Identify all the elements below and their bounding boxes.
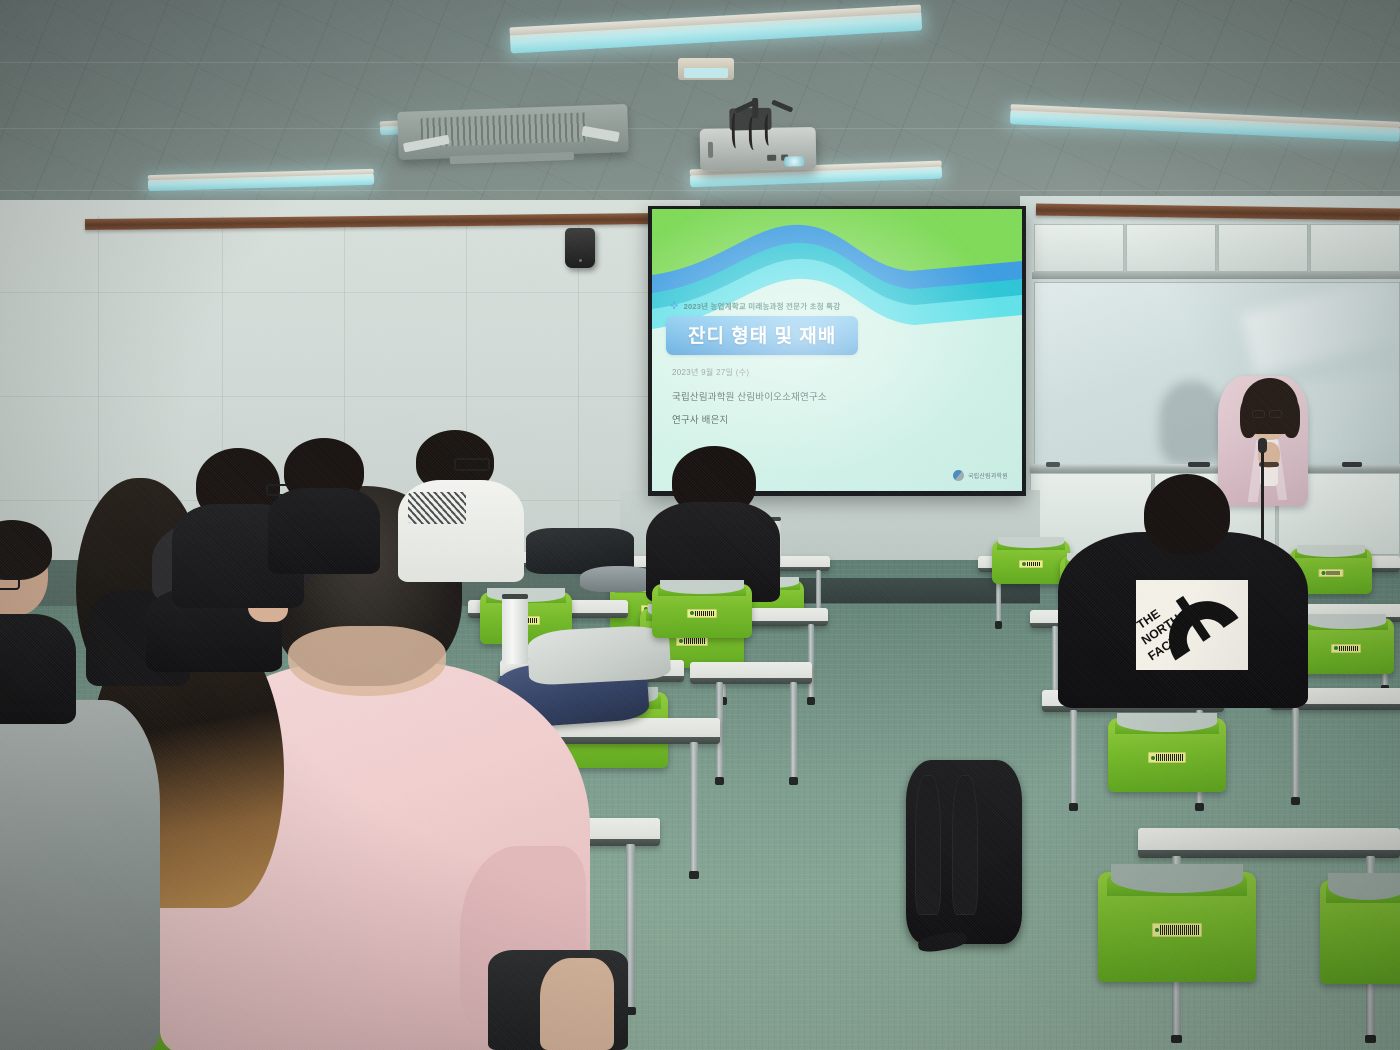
slide-logo-text: 국립산림과학원 bbox=[968, 471, 1008, 480]
plus-icon: ✜ bbox=[670, 302, 679, 312]
whiteboard-marker[interactable] bbox=[1046, 462, 1060, 467]
chair[interactable] bbox=[652, 584, 752, 638]
student-north-face: THE NORTH FACE bbox=[1058, 474, 1308, 706]
asset-seal-icon bbox=[1151, 756, 1155, 760]
cabinet-door[interactable] bbox=[1218, 224, 1308, 272]
ceiling-air-conditioner bbox=[397, 104, 629, 160]
presenter-glasses bbox=[1269, 410, 1282, 418]
slide-logo: 국립산림과학원 bbox=[953, 470, 1008, 481]
cabinet-door[interactable] bbox=[1310, 224, 1400, 272]
asset-seal-icon bbox=[690, 611, 694, 615]
slide-organization: 국립산림과학원 산림바이오소재연구소 bbox=[672, 389, 827, 403]
slide-title: 잔디 형태 및 재배 bbox=[666, 316, 858, 355]
chair[interactable] bbox=[1320, 880, 1400, 984]
eyeglasses bbox=[454, 458, 490, 471]
desk-leg bbox=[1070, 710, 1077, 804]
presenter-hair-side bbox=[1282, 398, 1300, 438]
slide-date: 2023년 9월 27일 (수) bbox=[672, 367, 749, 378]
asset-seal-icon bbox=[1322, 571, 1326, 575]
lecture-hall-photo: ✜ 2023년 농업계학교 미래농과정 전문가 초청 특강 잔디 형태 및 재배… bbox=[0, 0, 1400, 1050]
presenter-shadow bbox=[1159, 381, 1225, 465]
cabinet-underside bbox=[1032, 272, 1400, 279]
student-white-tee-glasses bbox=[398, 430, 524, 582]
desk-leg bbox=[808, 624, 814, 698]
north-face-logo: THE NORTH FACE bbox=[1136, 580, 1248, 670]
desk-leg bbox=[690, 742, 698, 872]
slide-kicker: ✜ 2023년 농업계학교 미래농과정 전문가 초청 특강 bbox=[670, 301, 840, 312]
student-dark-back-left bbox=[268, 438, 380, 568]
desk[interactable] bbox=[690, 662, 812, 684]
asset-seal-icon bbox=[1334, 646, 1338, 650]
whiteboard[interactable] bbox=[1034, 282, 1400, 466]
slide-kicker-text: 2023년 농업계학교 미래농과정 전문가 초청 특강 bbox=[684, 301, 841, 312]
north-face-mark-icon: THE NORTH FACE bbox=[1136, 580, 1248, 670]
desk[interactable] bbox=[1138, 828, 1400, 858]
taegeuk-logo-icon bbox=[953, 470, 964, 481]
presenter-hair-side bbox=[1240, 398, 1258, 438]
ceiling-projector bbox=[700, 127, 817, 171]
presenter-glasses bbox=[1252, 410, 1265, 418]
cabinet-door[interactable] bbox=[1126, 224, 1216, 272]
asset-seal-icon bbox=[1155, 928, 1159, 932]
chair[interactable] bbox=[1098, 872, 1256, 982]
wall-speaker bbox=[565, 228, 595, 268]
asset-seal-icon bbox=[1022, 562, 1026, 566]
whiteboard-marker[interactable] bbox=[1188, 462, 1210, 467]
desk-leg bbox=[790, 682, 797, 778]
desk-leg bbox=[1292, 708, 1299, 798]
overhead-cabinets[interactable] bbox=[1034, 224, 1400, 272]
microphone-head[interactable] bbox=[1258, 438, 1267, 453]
student-glasses-left bbox=[0, 520, 94, 720]
cabinet-door[interactable] bbox=[1034, 224, 1124, 272]
student-knee bbox=[540, 958, 614, 1050]
slide-presenter-line: 연구사 배은지 bbox=[672, 412, 728, 426]
student-hair bbox=[1144, 474, 1230, 554]
eyeglasses bbox=[0, 576, 20, 590]
student-grey-jacket bbox=[0, 700, 160, 1050]
asset-seal-icon bbox=[679, 639, 683, 643]
student-black-top-center bbox=[646, 446, 780, 602]
recessed-ceiling-light bbox=[678, 58, 734, 80]
whiteboard-marker[interactable] bbox=[1342, 462, 1362, 467]
chair[interactable] bbox=[1298, 618, 1394, 674]
chair[interactable] bbox=[1108, 718, 1226, 792]
backpack[interactable] bbox=[906, 760, 1022, 944]
white-graphic-tshirt bbox=[398, 480, 524, 582]
